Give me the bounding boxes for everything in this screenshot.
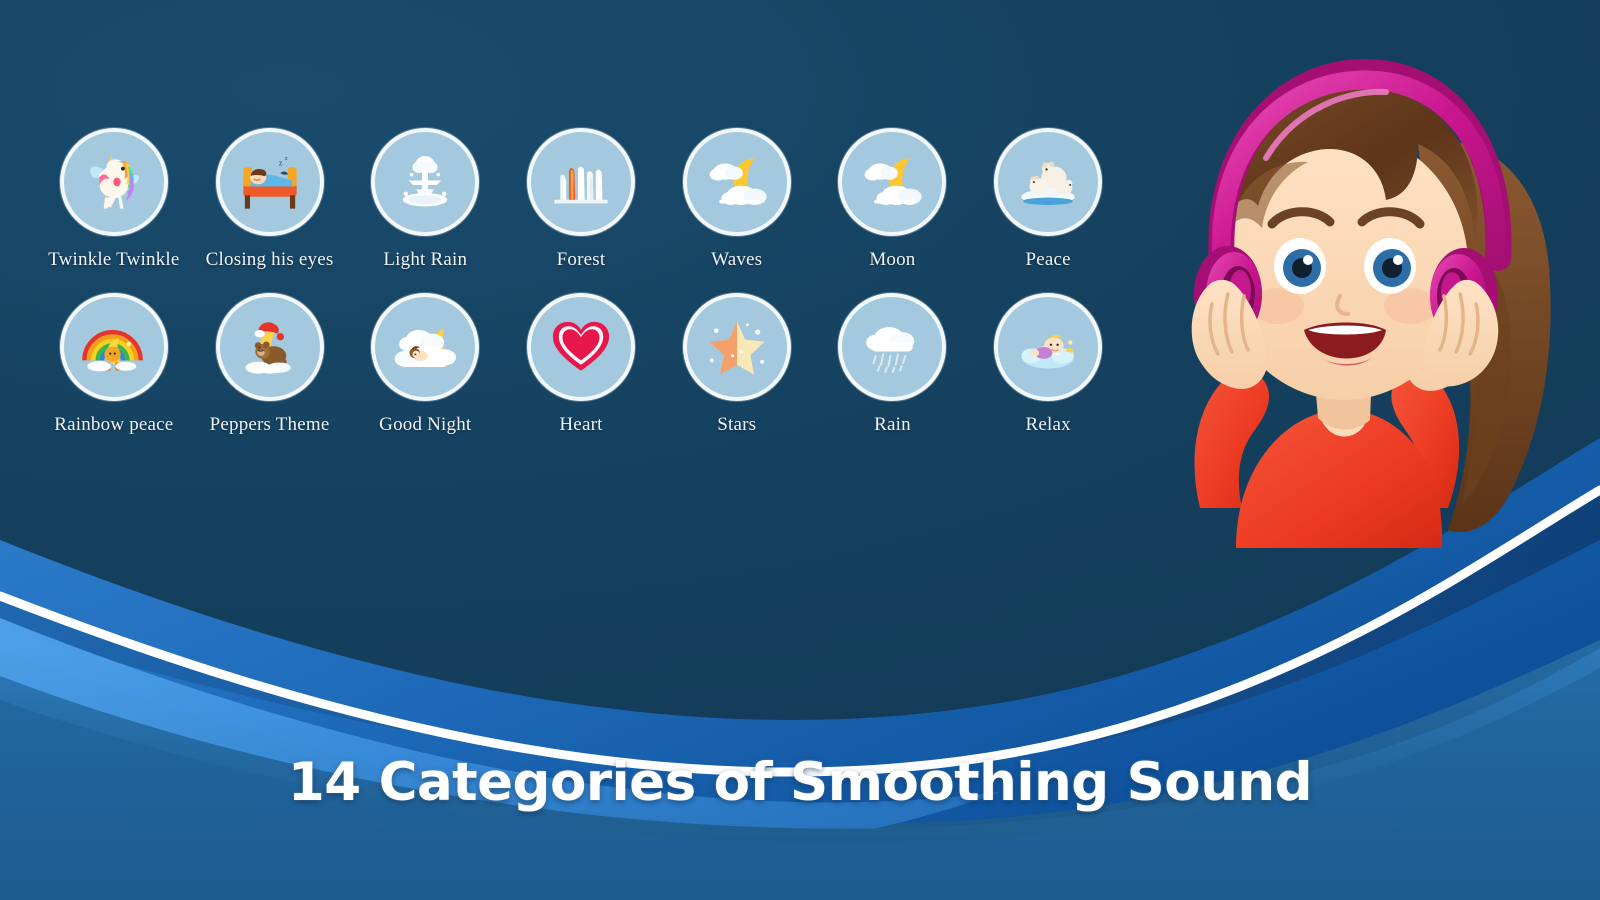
category-label: Closing his eyes [206,249,334,271]
star-icon[interactable] [683,293,791,401]
svg-text:z: z [278,159,282,168]
category-item[interactable]: Good Night [347,293,503,436]
sleeping-bear-moon-icon[interactable] [216,293,324,401]
rain-cloud-icon[interactable] [838,293,946,401]
category-label: Peppers Theme [210,414,330,436]
category-label: Twinkle Twinkle [48,249,179,271]
category-label: Moon [869,249,915,271]
category-item[interactable]: Peace [970,128,1126,271]
page-title: 14 Categories of Smoothing Sound [0,752,1600,813]
category-item[interactable]: Forest [503,128,659,271]
category-item[interactable]: Relax [970,293,1126,436]
category-item[interactable]: Stars [659,293,815,436]
category-label: Forest [557,249,606,271]
moon-cloud-icon[interactable] [683,128,791,236]
unicorn-icon[interactable] [60,128,168,236]
category-label: Relax [1025,414,1070,436]
moon-cloud-icon[interactable] [838,128,946,236]
category-item[interactable]: Rain [815,293,971,436]
sleeping-boy-bed-icon[interactable]: z z [216,128,324,236]
category-item[interactable]: Moon [815,128,971,271]
heart-icon[interactable] [527,293,635,401]
category-item[interactable]: Waves [659,128,815,271]
category-label: Heart [559,414,602,436]
category-label: Rainbow peace [54,414,173,436]
category-label: Waves [711,249,762,271]
polar-bears-icon[interactable] [994,128,1102,236]
category-item[interactable]: Rainbow peace [36,293,192,436]
category-item[interactable]: Heart [503,293,659,436]
category-item[interactable]: Peppers Theme [192,293,348,436]
category-item[interactable]: Twinkle Twinkle [36,128,192,271]
category-label: Light Rain [383,249,467,271]
sound-categories-grid: Twinkle Twinkle z z Closing his eyes Lig… [36,128,1126,436]
category-label: Rain [874,414,911,436]
category-label: Good Night [379,414,471,436]
forest-trees-icon[interactable] [527,128,635,236]
promo-banner: Twinkle Twinkle z z Closing his eyes Lig… [0,0,1600,900]
svg-text:z: z [284,155,287,162]
baby-cloud-moon-icon[interactable] [371,293,479,401]
category-item[interactable]: Light Rain [347,128,503,271]
category-label: Stars [717,414,756,436]
rainbow-moon-cat-icon[interactable] [60,293,168,401]
fountain-icon[interactable] [371,128,479,236]
girl-with-headphones-illustration [1118,38,1600,548]
category-label: Peace [1025,249,1070,271]
category-item[interactable]: z z Closing his eyes [192,128,348,271]
baby-relax-cloud-icon[interactable] [994,293,1102,401]
